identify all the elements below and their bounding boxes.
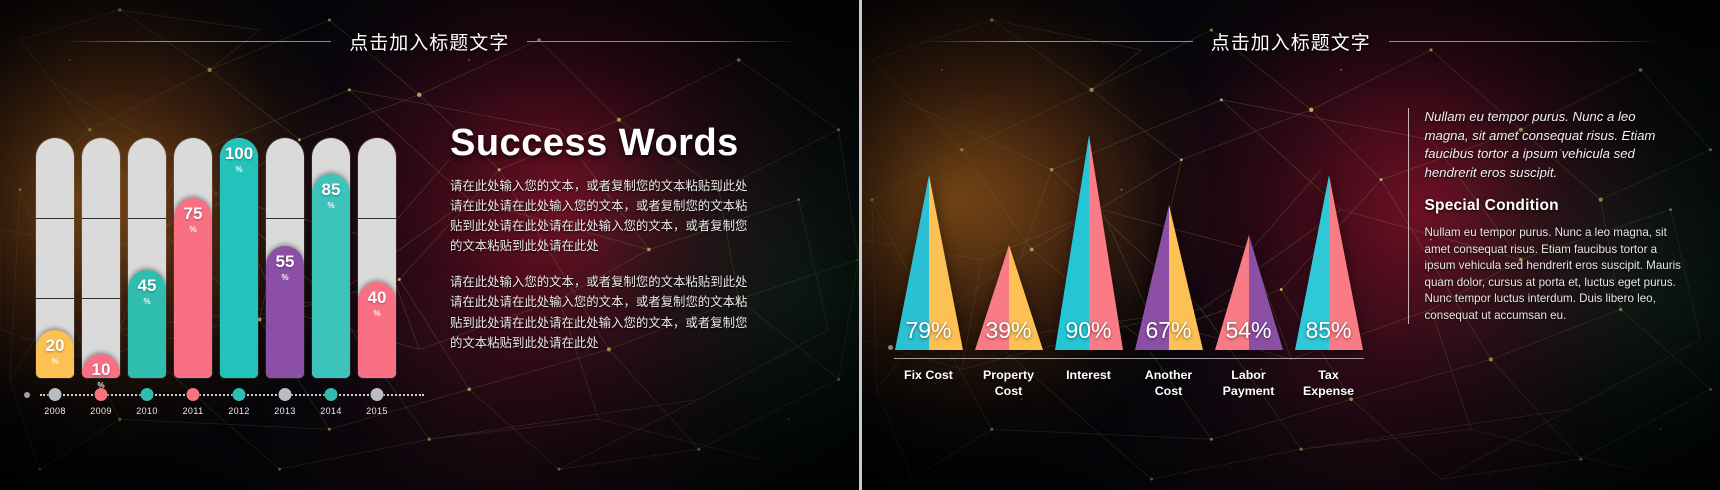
triangle-value-label: 54% <box>1215 317 1283 344</box>
bar-gridline <box>266 218 304 219</box>
triangle-group: 85% <box>1294 100 1364 350</box>
bar-value-label: 40 <box>368 289 387 306</box>
triangle-category-label: TaxExpense <box>1294 368 1364 400</box>
bar-unit-label: % <box>235 165 242 174</box>
header-rule-left <box>923 41 1193 42</box>
triangle-group: 54% <box>1214 100 1284 350</box>
year-timeline: 20082009201020112012201320142015 <box>36 386 416 420</box>
triangle-group: 79% <box>894 100 964 350</box>
right-body-paragraph: Nullam eu tempor purus. Nunc a leo magna… <box>1425 225 1683 324</box>
split-triangle[interactable]: 54% <box>1215 235 1283 350</box>
slide-title-left: 点击加入标题文字 <box>331 28 527 55</box>
timeline-year-label: 2011 <box>183 406 204 416</box>
special-condition-heading: Special Condition <box>1425 197 1683 215</box>
triangle-category-label: Fix Cost <box>894 368 964 400</box>
timeline-dot[interactable] <box>233 388 246 401</box>
bar-fill: 55% <box>266 246 304 378</box>
bar-gridline <box>36 298 74 299</box>
triangle-value-label: 79% <box>895 317 963 344</box>
bar-column: 85% <box>312 138 350 378</box>
bar-column: 75% <box>174 138 212 378</box>
bar-value-label: 55 <box>276 253 295 270</box>
timeline-year-label: 2014 <box>320 406 342 416</box>
bar-fill: 75% <box>174 198 212 378</box>
timeline-dot[interactable] <box>371 388 384 401</box>
bar-value-label: 100 <box>225 145 253 162</box>
bar-gridline <box>358 218 396 219</box>
bar-unit-label: % <box>373 309 380 318</box>
axis-start-dot <box>888 345 893 350</box>
slide-panel-right: 点击加入标题文字 79%39%90%67%54%85% Fix CostProp… <box>859 0 1720 490</box>
bar-value-label: 75 <box>184 205 203 222</box>
timeline-year-label: 2012 <box>228 406 250 416</box>
triangle-group: 39% <box>974 100 1044 350</box>
header-rule-right <box>527 41 797 42</box>
header-rule-right <box>1389 41 1659 42</box>
slide-title-right: 点击加入标题文字 <box>1193 28 1389 55</box>
capsule-bar-chart: 20%10%45%75%100%55%85%40% <box>36 138 416 378</box>
timeline-year-label: 2013 <box>274 406 296 416</box>
bar-fill: 45% <box>128 270 166 378</box>
timeline-year-label: 2008 <box>44 406 66 416</box>
bar-fill: 40% <box>358 282 396 378</box>
timeline-year-label: 2009 <box>90 406 112 416</box>
timeline-dot[interactable] <box>95 388 108 401</box>
slide-header-right: 点击加入标题文字 <box>862 28 1720 55</box>
triangle-chart: 79%39%90%67%54%85% <box>894 100 1364 350</box>
right-text-block: Nullam eu tempor purus. Nunc a leo magna… <box>1408 108 1683 324</box>
bar-unit-label: % <box>281 273 288 282</box>
triangle-value-label: 90% <box>1055 317 1123 344</box>
bar-fill: 20% <box>36 330 74 378</box>
timeline-year-label: 2010 <box>136 406 158 416</box>
left-text-block: Success Words 请在此处输入您的文本，或者复制您的文本粘贴到此处请在… <box>450 124 750 369</box>
timeline-dot[interactable] <box>187 388 200 401</box>
triangle-group: 67% <box>1134 100 1204 350</box>
bar-column: 55% <box>266 138 304 378</box>
bar-fill: 85% <box>312 174 350 378</box>
timeline-dot[interactable] <box>325 388 338 401</box>
left-paragraph-2: 请在此处输入您的文本，或者复制您的文本粘贴到此处请在此处请在此处输入您的文本，或… <box>450 272 750 352</box>
left-paragraph-1: 请在此处输入您的文本，或者复制您的文本粘贴到此处请在此处请在此处输入您的文本，或… <box>450 176 750 256</box>
bar-unit-label: % <box>189 225 196 234</box>
timeline-start-dot <box>24 392 30 398</box>
triangle-category-label: AnotherCost <box>1134 368 1204 400</box>
triangle-value-label: 85% <box>1295 317 1363 344</box>
triangle-value-label: 39% <box>975 317 1043 344</box>
bar-value-label: 85 <box>322 181 341 198</box>
bar-track <box>82 138 120 378</box>
split-triangle[interactable]: 79% <box>895 175 963 350</box>
bar-column: 100% <box>220 138 258 378</box>
triangle-value-label: 67% <box>1135 317 1203 344</box>
presentation-stage: 点击加入标题文字 20%10%45%75%100%55%85%40% 20082… <box>0 0 1720 490</box>
triangle-category-label: Interest <box>1054 368 1124 400</box>
slide-header-left: 点击加入标题文字 <box>0 28 859 55</box>
success-words-heading: Success Words <box>450 124 750 162</box>
bar-unit-label: % <box>327 201 334 210</box>
timeline-dot[interactable] <box>141 388 154 401</box>
timeline-dot[interactable] <box>279 388 292 401</box>
triangle-category-label: LaborPayment <box>1214 368 1284 400</box>
split-triangle[interactable]: 67% <box>1135 205 1203 350</box>
triangle-group: 90% <box>1054 100 1124 350</box>
bar-gridline <box>128 218 166 219</box>
bar-column: 20% <box>36 138 74 378</box>
bar-fill: 100% <box>220 138 258 378</box>
timeline-dot[interactable] <box>49 388 62 401</box>
split-triangle[interactable]: 39% <box>975 245 1043 350</box>
split-triangle[interactable]: 85% <box>1295 175 1363 350</box>
triangle-chart-x-labels: Fix CostPropertyCostInterestAnotherCostL… <box>894 368 1364 400</box>
triangle-category-label: PropertyCost <box>974 368 1044 400</box>
bar-gridline <box>82 298 120 299</box>
bar-gridline <box>82 218 120 219</box>
bar-column: 40% <box>358 138 396 378</box>
bar-unit-label: % <box>51 357 58 366</box>
bar-value-label: 20 <box>46 337 65 354</box>
bar-value-label: 45 <box>138 277 157 294</box>
lead-paragraph: Nullam eu tempor purus. Nunc a leo magna… <box>1425 108 1683 183</box>
split-triangle[interactable]: 90% <box>1055 135 1123 350</box>
timeline-year-label: 2015 <box>366 406 388 416</box>
bar-unit-label: % <box>143 297 150 306</box>
bar-column: 45% <box>128 138 166 378</box>
bar-gridline <box>36 218 74 219</box>
bar-column: 10% <box>82 138 120 378</box>
slide-panel-left: 点击加入标题文字 20%10%45%75%100%55%85%40% 20082… <box>0 0 859 490</box>
header-rule-left <box>61 41 331 42</box>
bar-value-label: 10 <box>92 361 111 378</box>
chart-axis-line <box>894 358 1364 359</box>
